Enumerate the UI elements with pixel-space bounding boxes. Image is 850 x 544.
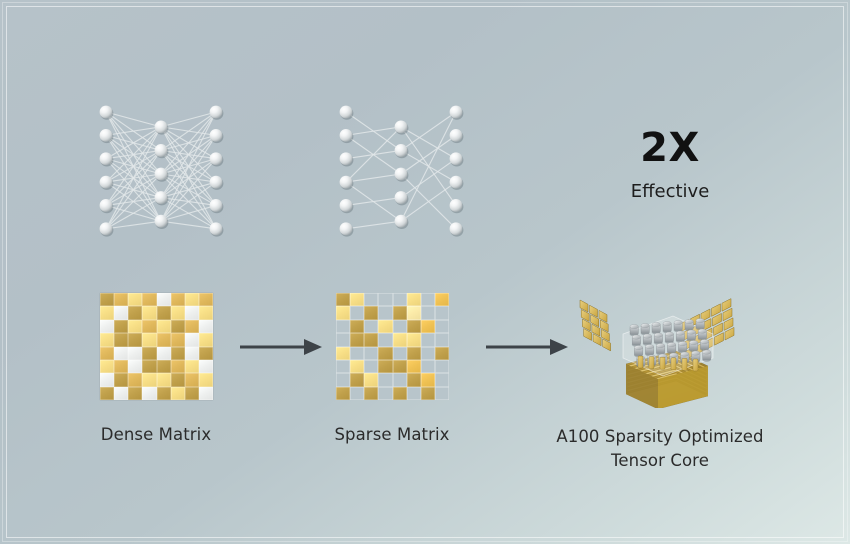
dense-cell-3-4 bbox=[157, 333, 171, 346]
network-node-2-3 bbox=[450, 176, 463, 189]
dense-cell-2-5 bbox=[171, 320, 185, 333]
network-node-2-5 bbox=[450, 222, 463, 235]
network-node-2-0 bbox=[450, 106, 463, 119]
sparse-cell-2-5 bbox=[407, 320, 421, 333]
dense-cell-6-1 bbox=[114, 373, 128, 386]
sparse-cell-1-2 bbox=[364, 306, 378, 319]
dense-cell-7-4 bbox=[157, 387, 171, 400]
dense-cell-3-1 bbox=[114, 333, 128, 346]
sparse-cell-2-1 bbox=[350, 320, 364, 333]
network-node-1-2 bbox=[155, 168, 168, 181]
arrow-sparse-to-tensor bbox=[486, 335, 568, 363]
dense-cell-6-4 bbox=[157, 373, 171, 386]
dense-cell-1-3 bbox=[142, 306, 156, 319]
dense-matrix-grid bbox=[100, 293, 213, 400]
dense-cell-4-7 bbox=[199, 347, 213, 360]
dense-cell-4-2 bbox=[128, 347, 142, 360]
dense-cell-3-0 bbox=[100, 333, 114, 346]
dense-cell-4-0 bbox=[100, 347, 114, 360]
sparse-cell-3-3 bbox=[378, 333, 392, 346]
dense-cell-0-2 bbox=[128, 293, 142, 306]
dense-cell-1-5 bbox=[171, 306, 185, 319]
network-node-0-3 bbox=[100, 176, 113, 189]
sparse-cell-1-7 bbox=[435, 306, 449, 319]
dense-cell-0-3 bbox=[142, 293, 156, 306]
sparse-cell-6-7 bbox=[435, 373, 449, 386]
sparse-cell-1-1 bbox=[350, 306, 364, 319]
sparse-cell-5-1 bbox=[350, 360, 364, 373]
sparse-cell-3-0 bbox=[336, 333, 350, 346]
slide-canvas: 2X Effective Dense Matrix Sparse Matrix … bbox=[0, 0, 850, 544]
network-node-1-3 bbox=[155, 191, 168, 204]
network-node-0-5 bbox=[100, 222, 113, 235]
speedup-caption: Effective bbox=[570, 181, 770, 202]
sparse-cell-6-6 bbox=[421, 373, 435, 386]
sparse-cell-3-4 bbox=[393, 333, 407, 346]
sparse-cell-4-0 bbox=[336, 347, 350, 360]
network-node-0-3 bbox=[340, 176, 353, 189]
dense-cell-7-0 bbox=[100, 387, 114, 400]
sparse-cell-2-0 bbox=[336, 320, 350, 333]
sparse-cell-4-3 bbox=[378, 347, 392, 360]
dense-cell-7-6 bbox=[185, 387, 199, 400]
dense-cell-4-1 bbox=[114, 347, 128, 360]
sparse-cell-4-2 bbox=[364, 347, 378, 360]
dense-cell-6-2 bbox=[128, 373, 142, 386]
sparse-cell-1-3 bbox=[378, 306, 392, 319]
dense-cell-2-0 bbox=[100, 320, 114, 333]
sparse-cell-5-4 bbox=[393, 360, 407, 373]
sparse-cell-5-2 bbox=[364, 360, 378, 373]
network-node-0-1 bbox=[340, 129, 353, 142]
network-node-1-0 bbox=[155, 120, 168, 133]
dense-cell-2-6 bbox=[185, 320, 199, 333]
sparse-cell-0-0 bbox=[336, 293, 350, 306]
arrow-icon bbox=[486, 335, 568, 359]
network-node-1-2 bbox=[395, 168, 408, 181]
sparse-cell-5-0 bbox=[336, 360, 350, 373]
sparse-cell-1-4 bbox=[393, 306, 407, 319]
dense-cell-7-2 bbox=[128, 387, 142, 400]
sparse-cell-5-7 bbox=[435, 360, 449, 373]
sparse-matrix-grid bbox=[336, 293, 449, 400]
dense-cell-4-5 bbox=[171, 347, 185, 360]
dense-cell-4-6 bbox=[185, 347, 199, 360]
sparse-cell-2-6 bbox=[421, 320, 435, 333]
network-node-0-4 bbox=[340, 199, 353, 212]
network-node-1-3 bbox=[395, 191, 408, 204]
sparse-cell-2-7 bbox=[435, 320, 449, 333]
sparse-cell-0-5 bbox=[407, 293, 421, 306]
dense-cell-3-3 bbox=[142, 333, 156, 346]
network-node-1-1 bbox=[395, 144, 408, 157]
dense-cell-3-5 bbox=[171, 333, 185, 346]
sparse-cell-7-3 bbox=[378, 387, 392, 400]
network-node-2-2 bbox=[450, 152, 463, 165]
dense-cell-3-7 bbox=[199, 333, 213, 346]
sparse-cell-4-1 bbox=[350, 347, 364, 360]
tensor-core-label-line2: Tensor Core bbox=[510, 449, 810, 473]
dense-cell-0-4 bbox=[157, 293, 171, 306]
sparse-cell-0-3 bbox=[378, 293, 392, 306]
sparse-cell-6-1 bbox=[350, 373, 364, 386]
dense-cell-0-5 bbox=[171, 293, 185, 306]
dense-cell-6-5 bbox=[171, 373, 185, 386]
sparse-cell-0-2 bbox=[364, 293, 378, 306]
sparse-cell-6-5 bbox=[407, 373, 421, 386]
network-node-0-1 bbox=[100, 129, 113, 142]
network-node-2-3 bbox=[210, 176, 223, 189]
network-node-1-1 bbox=[155, 144, 168, 157]
dense-cell-2-3 bbox=[142, 320, 156, 333]
dense-neural-network bbox=[96, 100, 226, 248]
dense-cell-1-2 bbox=[128, 306, 142, 319]
network-node-1-4 bbox=[395, 215, 408, 228]
sparse-cell-4-6 bbox=[421, 347, 435, 360]
dense-cell-0-0 bbox=[100, 293, 114, 306]
sparse-cell-5-3 bbox=[378, 360, 392, 373]
dense-cell-6-3 bbox=[142, 373, 156, 386]
dense-cell-5-2 bbox=[128, 360, 142, 373]
dense-cell-1-6 bbox=[185, 306, 199, 319]
sparse-cell-4-5 bbox=[407, 347, 421, 360]
arrow-dense-to-sparse bbox=[240, 335, 322, 363]
network-node-0-0 bbox=[340, 106, 353, 119]
sparse-cell-0-7 bbox=[435, 293, 449, 306]
sparse-cell-0-4 bbox=[393, 293, 407, 306]
sparse-cell-7-0 bbox=[336, 387, 350, 400]
tensor-core-label-line1: A100 Sparsity Optimized bbox=[510, 425, 810, 449]
dense-cell-1-0 bbox=[100, 306, 114, 319]
sparse-cell-3-2 bbox=[364, 333, 378, 346]
dense-matrix-graphic bbox=[100, 293, 213, 400]
sparse-cell-6-2 bbox=[364, 373, 378, 386]
dense-cell-1-7 bbox=[199, 306, 213, 319]
dense-cell-5-6 bbox=[185, 360, 199, 373]
sparse-cell-2-2 bbox=[364, 320, 378, 333]
dense-cell-0-6 bbox=[185, 293, 199, 306]
network-node-0-2 bbox=[100, 152, 113, 165]
dense-cell-2-1 bbox=[114, 320, 128, 333]
sparse-cell-7-1 bbox=[350, 387, 364, 400]
dense-cell-1-4 bbox=[157, 306, 171, 319]
sparse-cell-2-4 bbox=[393, 320, 407, 333]
dense-cell-5-1 bbox=[114, 360, 128, 373]
sparse-cell-3-5 bbox=[407, 333, 421, 346]
dense-cell-3-2 bbox=[128, 333, 142, 346]
sparse-cell-7-5 bbox=[407, 387, 421, 400]
dense-cell-7-3 bbox=[142, 387, 156, 400]
dense-cell-7-5 bbox=[171, 387, 185, 400]
dense-cell-4-3 bbox=[142, 347, 156, 360]
network-node-2-0 bbox=[210, 106, 223, 119]
dense-cell-6-0 bbox=[100, 373, 114, 386]
sparse-cell-7-4 bbox=[393, 387, 407, 400]
network-node-2-1 bbox=[450, 129, 463, 142]
sparse-neural-network bbox=[336, 100, 466, 248]
sparse-cell-0-1 bbox=[350, 293, 364, 306]
network-node-0-0 bbox=[100, 106, 113, 119]
sparse-cell-4-7 bbox=[435, 347, 449, 360]
sparse-cell-3-1 bbox=[350, 333, 364, 346]
dense-matrix-label: Dense Matrix bbox=[56, 425, 256, 444]
network-node-1-0 bbox=[395, 120, 408, 133]
network-node-2-1 bbox=[210, 129, 223, 142]
network-node-2-2 bbox=[210, 152, 223, 165]
sparse-cell-7-7 bbox=[435, 387, 449, 400]
sparse-cell-3-6 bbox=[421, 333, 435, 346]
dense-cell-5-3 bbox=[142, 360, 156, 373]
sparse-cell-4-4 bbox=[393, 347, 407, 360]
dense-cell-4-4 bbox=[157, 347, 171, 360]
sparse-cell-7-2 bbox=[364, 387, 378, 400]
sparse-cell-5-6 bbox=[421, 360, 435, 373]
speedup-value: 2X bbox=[570, 125, 770, 171]
dense-cell-3-6 bbox=[185, 333, 199, 346]
dense-cell-6-7 bbox=[199, 373, 213, 386]
sparse-network-svg bbox=[336, 100, 466, 248]
dense-cell-0-7 bbox=[199, 293, 213, 306]
sparse-cell-0-6 bbox=[421, 293, 435, 306]
dense-cell-2-2 bbox=[128, 320, 142, 333]
dense-cell-5-7 bbox=[199, 360, 213, 373]
dense-cell-7-1 bbox=[114, 387, 128, 400]
tensor-core-icon bbox=[568, 286, 758, 408]
network-node-2-4 bbox=[450, 199, 463, 212]
network-node-0-4 bbox=[100, 199, 113, 212]
network-node-0-2 bbox=[340, 152, 353, 165]
dense-cell-2-4 bbox=[157, 320, 171, 333]
dense-cell-1-1 bbox=[114, 306, 128, 319]
dense-cell-0-1 bbox=[114, 293, 128, 306]
network-node-2-5 bbox=[210, 222, 223, 235]
dense-cell-5-4 bbox=[157, 360, 171, 373]
sparse-cell-1-5 bbox=[407, 306, 421, 319]
dense-cell-6-6 bbox=[185, 373, 199, 386]
network-node-2-4 bbox=[210, 199, 223, 212]
arrow-icon bbox=[240, 335, 322, 359]
sparse-cell-6-4 bbox=[393, 373, 407, 386]
dense-cell-2-7 bbox=[199, 320, 213, 333]
tensor-core-label: A100 Sparsity Optimized Tensor Core bbox=[510, 425, 810, 473]
sparse-cell-6-3 bbox=[378, 373, 392, 386]
dense-cell-5-5 bbox=[171, 360, 185, 373]
sparse-matrix-label: Sparse Matrix bbox=[292, 425, 492, 444]
dense-network-svg bbox=[96, 100, 226, 248]
a100-tensor-core-graphic bbox=[568, 286, 758, 408]
sparse-cell-5-5 bbox=[407, 360, 421, 373]
sparse-cell-2-3 bbox=[378, 320, 392, 333]
dense-cell-7-7 bbox=[199, 387, 213, 400]
sparse-cell-1-0 bbox=[336, 306, 350, 319]
sparse-matrix-graphic bbox=[336, 293, 449, 400]
sparse-cell-7-6 bbox=[421, 387, 435, 400]
sparse-cell-1-6 bbox=[421, 306, 435, 319]
tensor-left-gold-panel bbox=[580, 300, 611, 351]
network-node-0-5 bbox=[340, 222, 353, 235]
dense-cell-5-0 bbox=[100, 360, 114, 373]
network-node-1-4 bbox=[155, 215, 168, 228]
sparse-cell-6-0 bbox=[336, 373, 350, 386]
sparse-cell-3-7 bbox=[435, 333, 449, 346]
